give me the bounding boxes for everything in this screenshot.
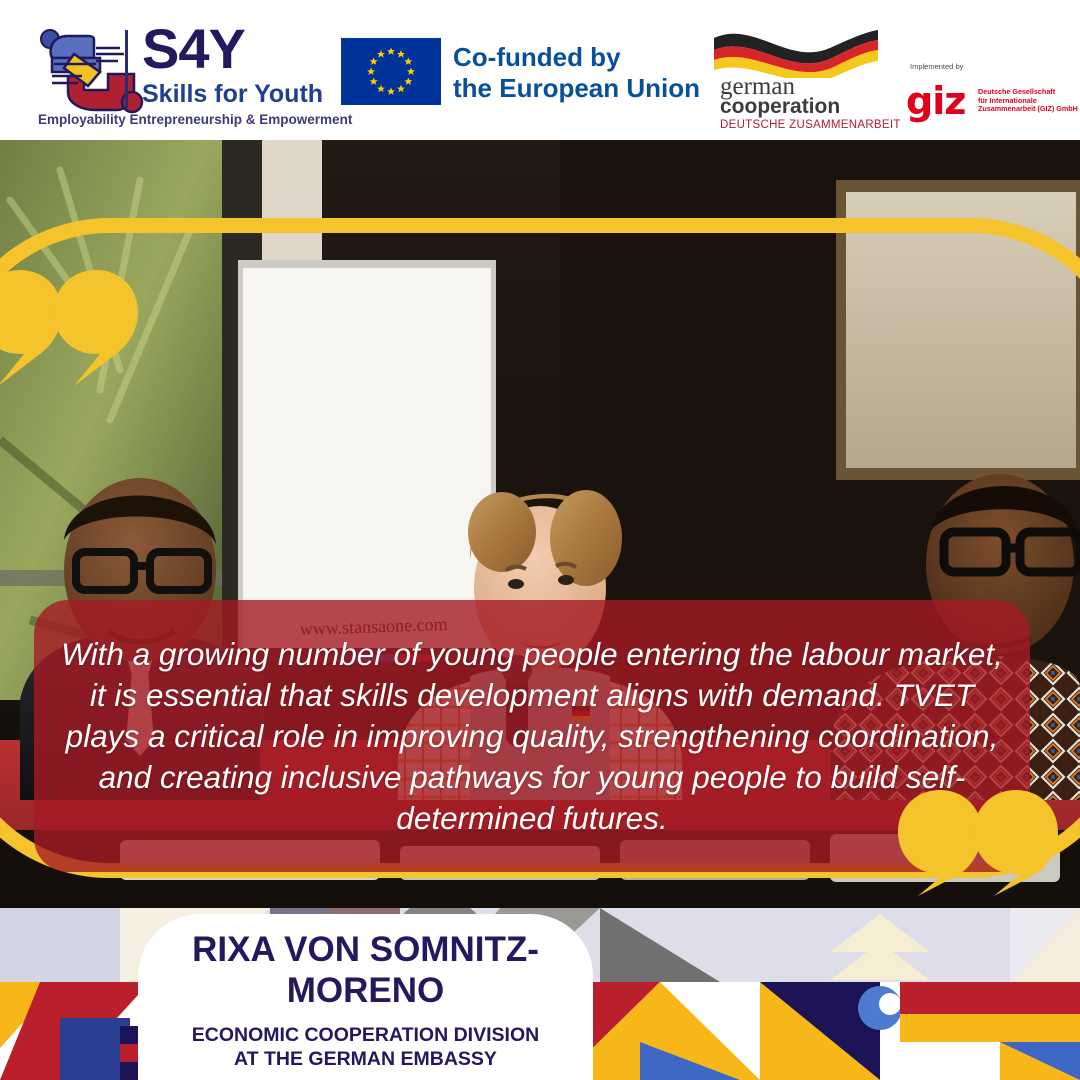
speaker-role-line2: AT THE GERMAN EMBASSY (192, 1047, 539, 1071)
giz-implemented-by-label: Implemented by (910, 62, 963, 71)
eu-text-line2: the European Union (453, 73, 700, 104)
giz-wordmark: giz (906, 82, 965, 120)
speaker-name: RIXA VON SOMNITZ-MORENO (158, 929, 573, 1011)
s4y-subtitle: Skills for Youth (142, 79, 342, 109)
s4y-wordmark: S4Y Skills for Youth (142, 22, 342, 109)
speaker-role: ECONOMIC COOPERATION DIVISION AT THE GER… (192, 1023, 539, 1071)
german-flag-wave-icon (710, 26, 880, 78)
eu-cofunding-text: Co-funded by the European Union (453, 42, 700, 104)
quote-card: With a growing number of young people en… (34, 600, 1030, 872)
closing-quotation-mark-icon (898, 788, 1058, 898)
social-media-quote-card: www.stansaone.com (0, 0, 1080, 1080)
quote-text: With a growing number of young people en… (56, 634, 1008, 839)
speaker-role-line1: ECONOMIC COOPERATION DIVISION (192, 1023, 539, 1047)
s4y-logo-icon (38, 28, 156, 118)
german-cooperation-logo: german cooperation DEUTSCHE ZUSAMMENARBE… (710, 26, 880, 131)
speaker-name-card: RIXA VON SOMNITZ-MORENO ECONOMIC COOPERA… (138, 914, 593, 1080)
eu-flag-icon (341, 38, 441, 105)
german-cooperation-line2: cooperation (720, 96, 840, 117)
s4y-acronym: S4Y (142, 22, 342, 76)
giz-description: Deutsche Gesellschaftfür InternationaleZ… (978, 88, 1078, 114)
logo-divider (125, 30, 128, 108)
german-cooperation-line3: DEUTSCHE ZUSAMMENARBEIT (720, 119, 901, 131)
eu-text-line1: Co-funded by (453, 42, 700, 73)
s4y-tagline: Employability Entrepreneurship & Empower… (38, 112, 328, 127)
logo-header-bar: S4Y Skills for Youth Employability Entre… (0, 0, 1080, 140)
opening-quotation-mark-icon (0, 268, 138, 388)
